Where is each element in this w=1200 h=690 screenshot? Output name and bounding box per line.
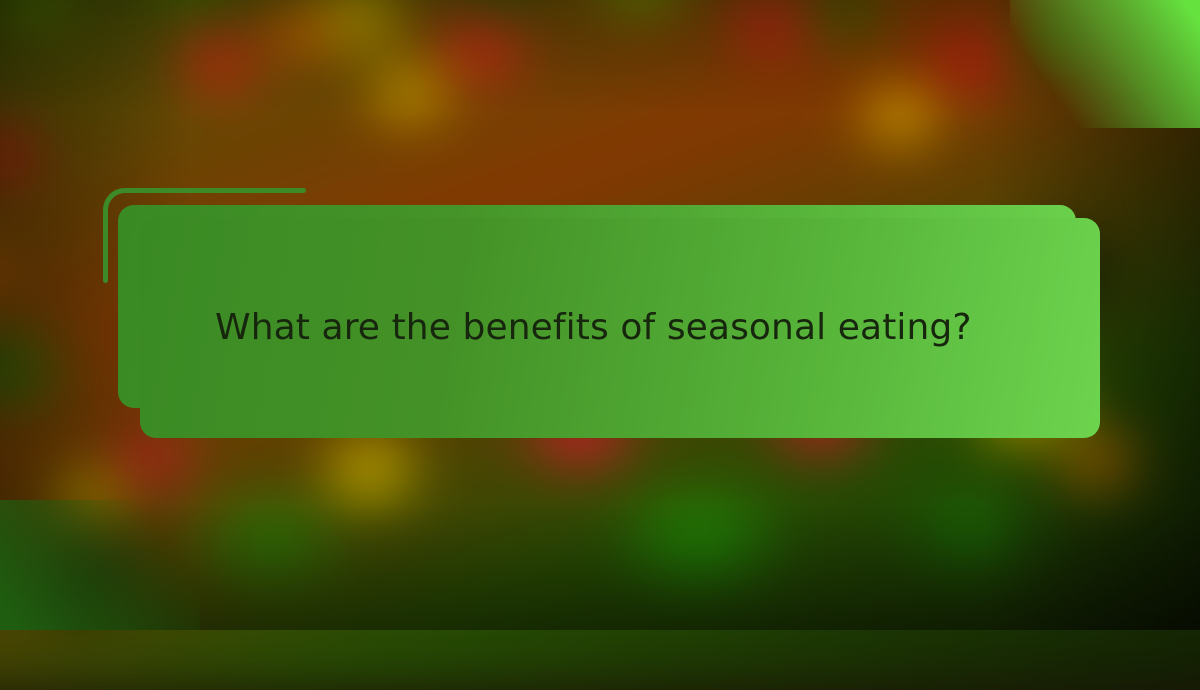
question-text: What are the benefits of seasonal eating… — [215, 306, 972, 349]
question-card: What are the benefits of seasonal eating… — [140, 218, 1100, 438]
